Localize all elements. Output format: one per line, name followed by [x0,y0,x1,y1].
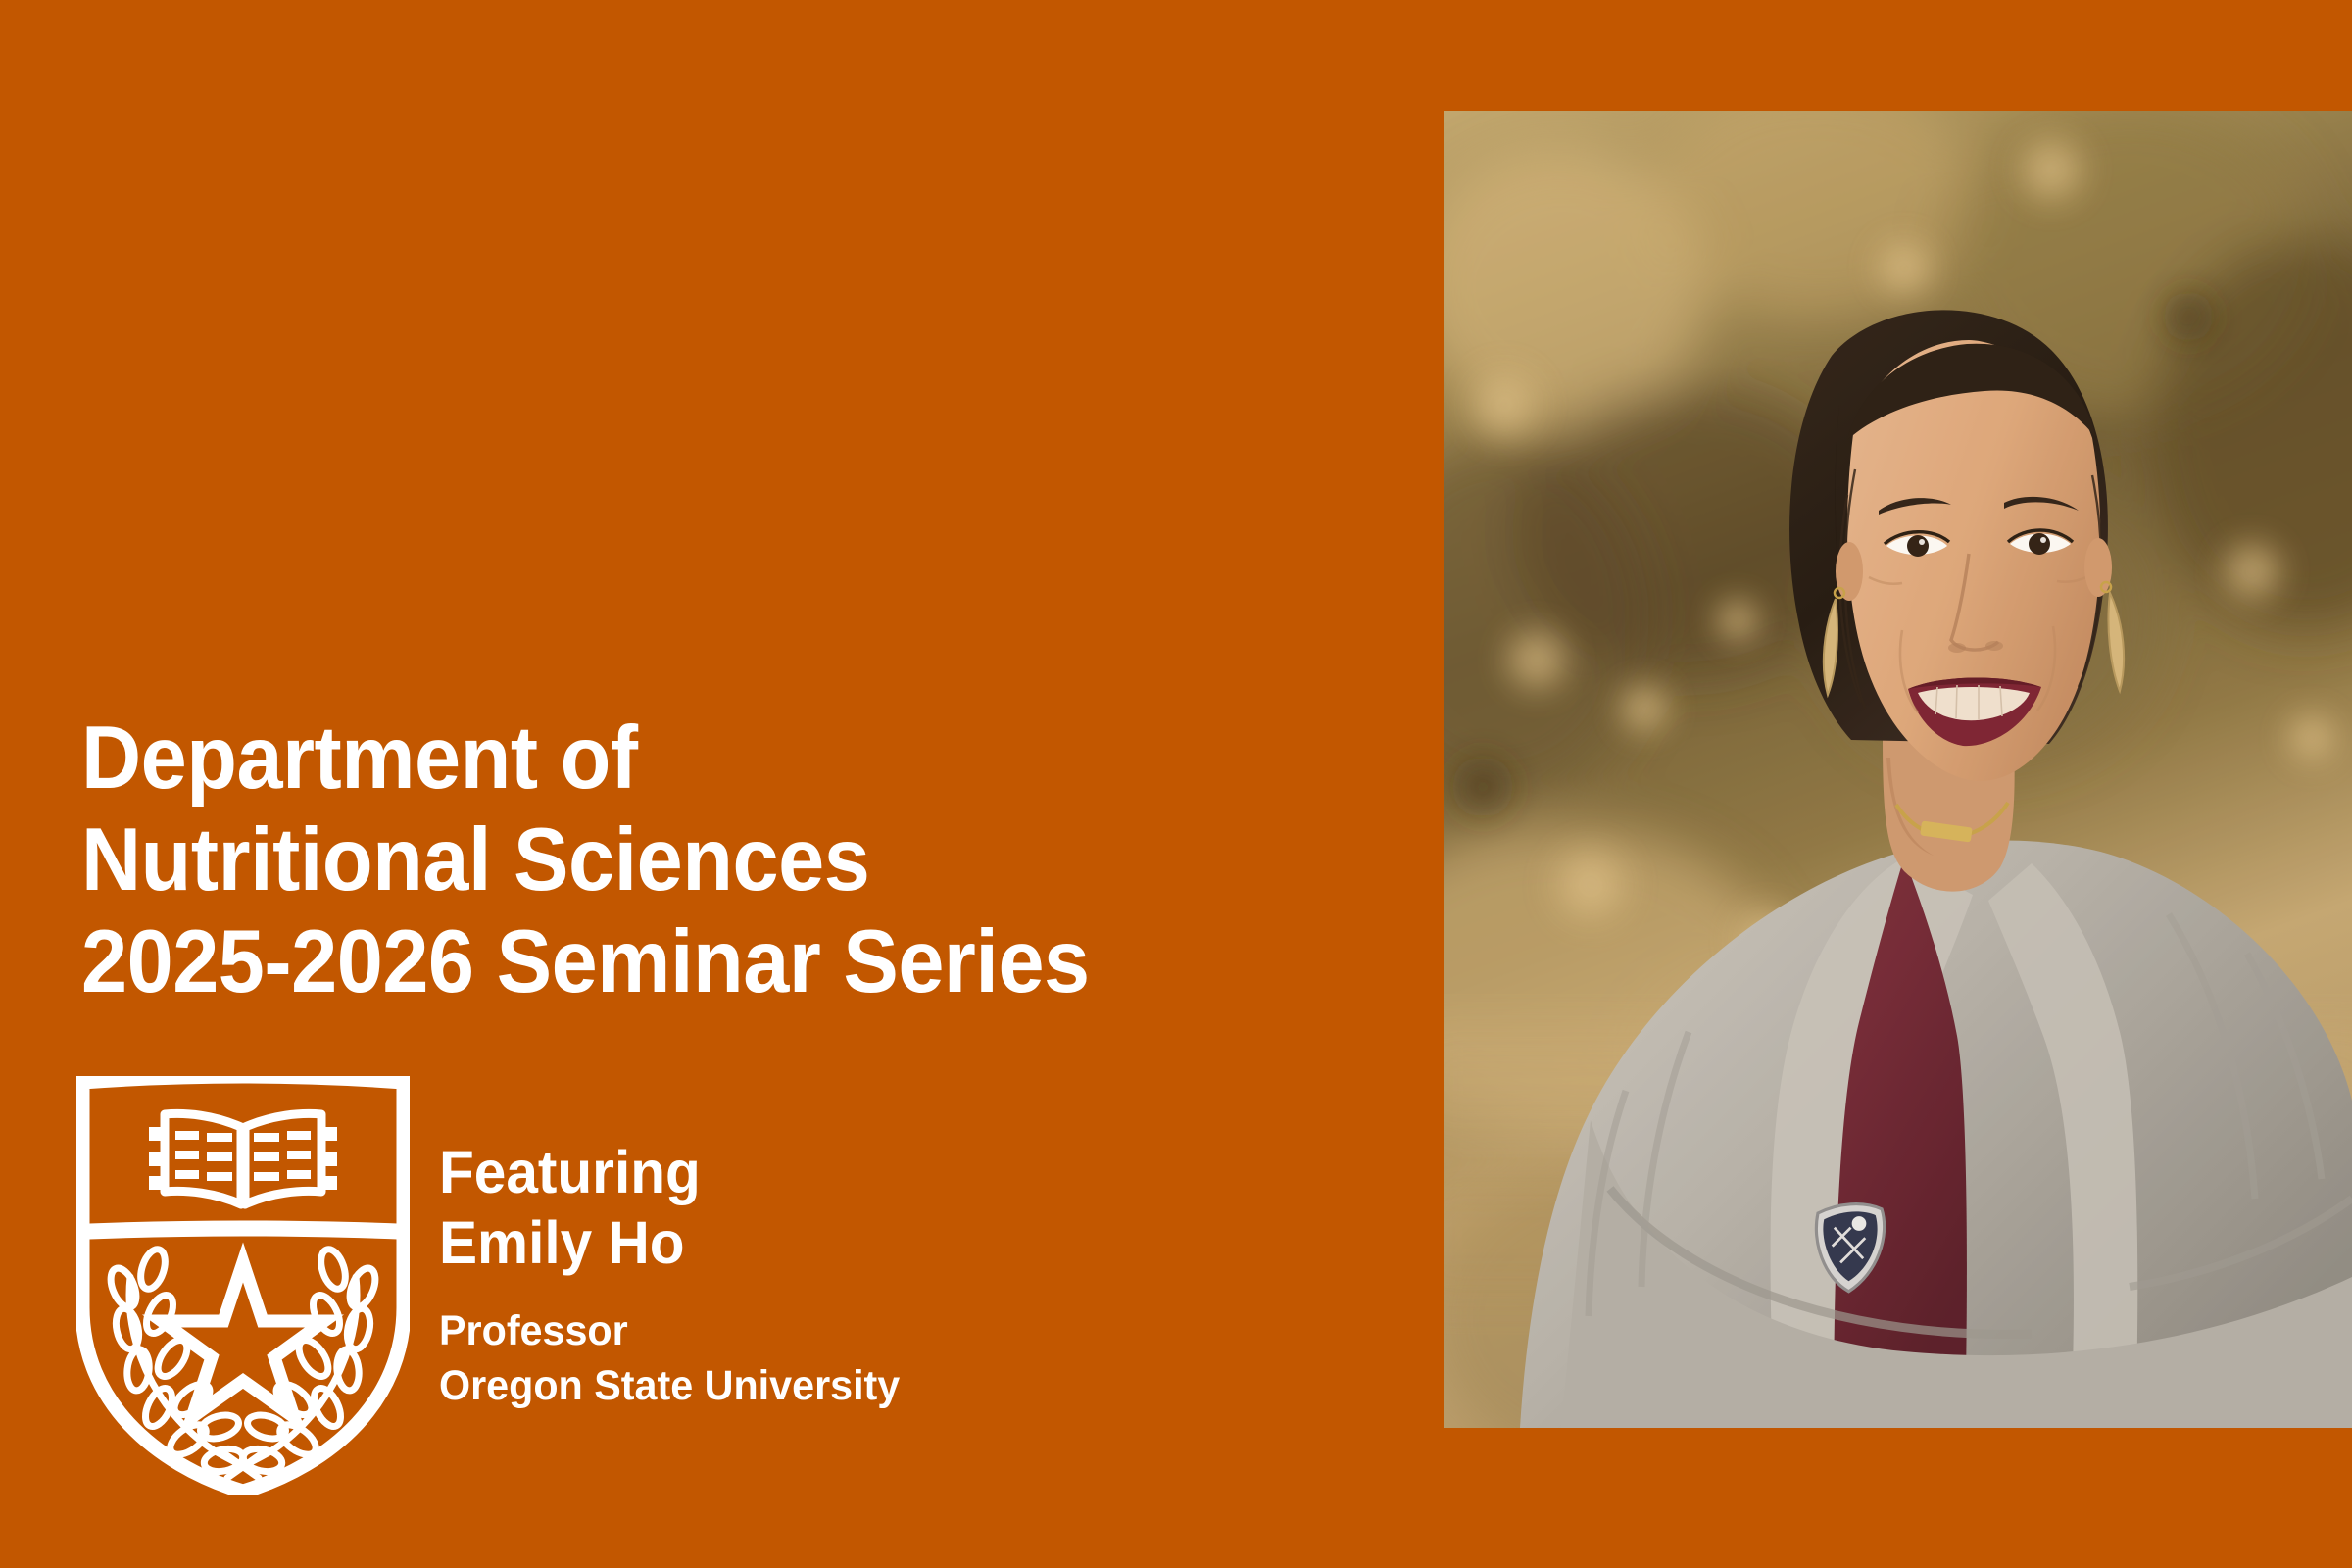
seminar-series-poster: Department of Nutritional Sciences 2025-… [0,0,2352,1568]
speaker-name: Emily Ho [439,1207,1154,1278]
title-line-3: 2025-2026 Seminar Series [81,911,1175,1013]
speaker-title: Professor [439,1303,1154,1358]
speaker-affiliation: Oregon State University [439,1358,1154,1413]
shield-chief-divider [76,1221,410,1242]
page-title: Department of Nutritional Sciences 2025-… [81,708,1257,1013]
speaker-headshot [1444,111,2352,1428]
featuring-block: Featuring Emily Ho Professor Oregon Stat… [439,1137,1184,1413]
featuring-label: Featuring [439,1137,1154,1207]
title-line-1: Department of [81,708,1175,809]
title-line-2: Nutritional Sciences [81,809,1175,911]
university-shield-logo [76,1076,410,1495]
